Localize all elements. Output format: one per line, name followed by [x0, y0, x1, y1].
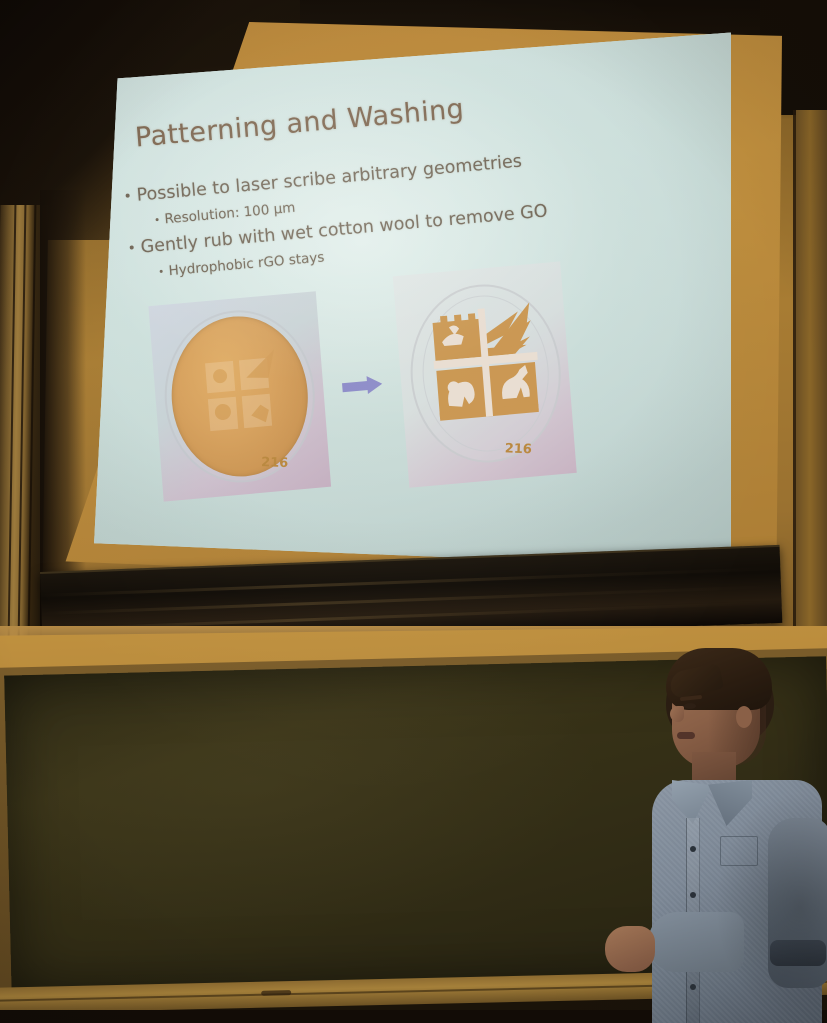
- eye: [684, 703, 696, 709]
- transition-arrow: [339, 374, 386, 397]
- bullet-text: Hydrophobic rGO stays: [168, 251, 325, 278]
- dish-handwritten-label: 216: [504, 441, 532, 457]
- slide-content: Patterning and Washing Possible to laser…: [120, 67, 762, 588]
- chalk-eraser: [261, 990, 291, 996]
- bullet-dot-icon: [155, 217, 158, 220]
- presenter: [600, 640, 827, 1023]
- right-arrow-icon: [342, 374, 383, 396]
- shirt-button: [690, 892, 696, 898]
- coat-of-arms-faint-icon: [196, 347, 285, 446]
- sleeve-cuff: [770, 940, 826, 966]
- nose: [670, 706, 684, 722]
- bullet-dot-icon: [160, 269, 163, 272]
- petri-dish-before-photo: 216: [148, 291, 331, 501]
- bullet-dot-icon: [125, 193, 129, 197]
- arm-left: [648, 912, 744, 972]
- mouth: [677, 732, 695, 739]
- shirt-button: [690, 984, 696, 990]
- bullet-text: Resolution: 100 µm: [164, 201, 296, 226]
- projected-slide: Patterning and Washing Possible to laser…: [72, 28, 762, 588]
- lecture-hall-scene: Patterning and Washing Possible to laser…: [0, 0, 827, 1023]
- figure-row: 216: [148, 243, 762, 510]
- dish-handwritten-label: 216: [261, 455, 289, 471]
- bullet-dot-icon: [130, 245, 134, 249]
- shirt-button: [690, 846, 696, 852]
- coat-of-arms-icon: [425, 300, 544, 427]
- hand: [605, 926, 655, 972]
- petri-dish-after-photo: 216: [393, 261, 577, 487]
- shirt-pocket: [720, 836, 758, 866]
- ear: [736, 706, 752, 728]
